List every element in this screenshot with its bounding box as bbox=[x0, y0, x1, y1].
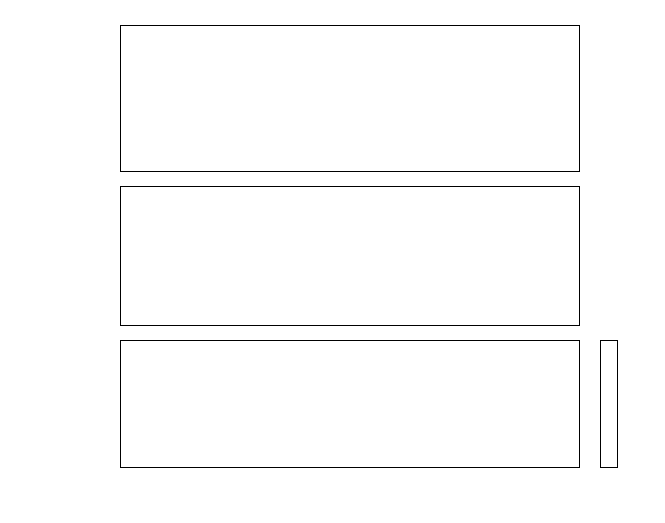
figure-root bbox=[0, 0, 665, 523]
proton-flux-colorbar bbox=[600, 340, 618, 468]
proton-flux-spectrogram bbox=[121, 341, 579, 467]
kp-trace bbox=[121, 26, 579, 171]
kp-panel bbox=[120, 25, 580, 172]
proton-flux-panel bbox=[120, 340, 580, 468]
dst-trace bbox=[121, 187, 579, 325]
dst-panel bbox=[120, 186, 580, 326]
